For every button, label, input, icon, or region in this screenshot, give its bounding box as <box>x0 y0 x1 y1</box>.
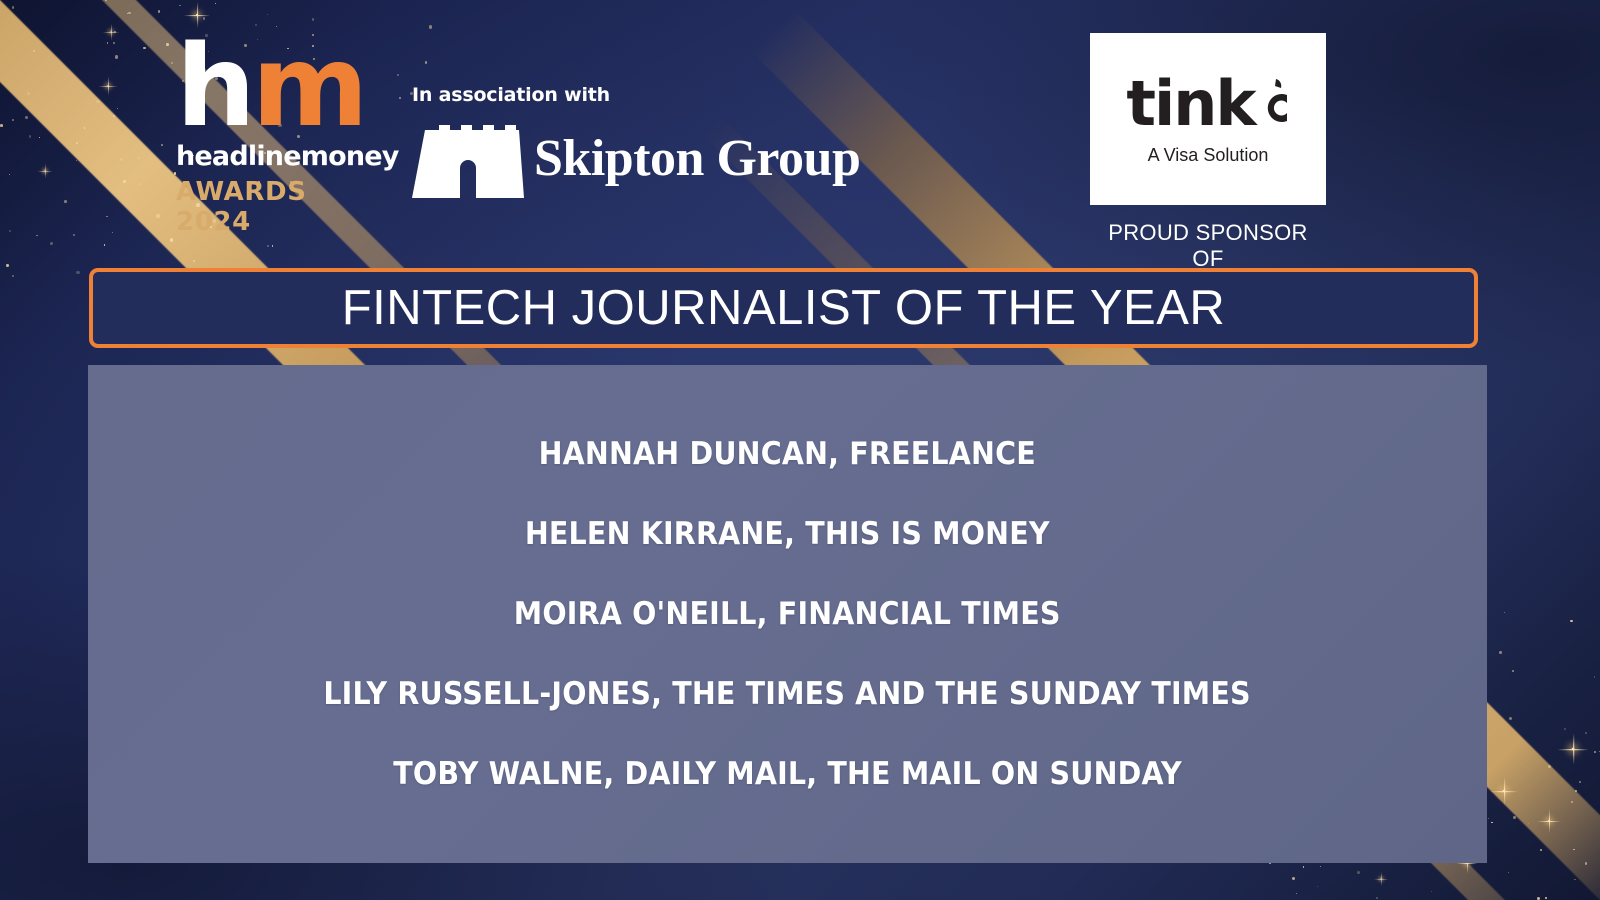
sparkle-dot <box>156 214 159 217</box>
sparkle-dot <box>171 62 173 64</box>
sparkle-dot <box>1512 670 1514 672</box>
sparkle-dot <box>429 25 432 28</box>
sparkle-dot <box>123 180 126 183</box>
nominee-entry: MOIRA O'NEILL, FINANCIAL TIMES <box>514 596 1061 632</box>
association-block: In association with Skipton Group <box>412 84 860 198</box>
sparkle-dot <box>203 17 206 20</box>
sparkle-dot <box>12 119 14 121</box>
nominee-entry: HELEN KIRRANE, THIS IS MONEY <box>525 516 1050 552</box>
sparkle-dot <box>312 18 314 20</box>
sparkle-dot <box>50 242 53 245</box>
sparkle-dot <box>112 232 113 233</box>
sparkle-dot <box>113 115 115 117</box>
sparkle-dot <box>120 158 123 161</box>
sparkle-dot <box>1545 897 1547 899</box>
sparkle-dot <box>64 200 67 203</box>
hm-awards-year: AWARDS 2024 <box>176 177 362 237</box>
hm-wordmark-headline: headline <box>176 141 301 172</box>
headline-money-logo: hm headlinemoney AWARDS 2024 <box>176 36 362 237</box>
sparkle-dot <box>272 245 273 246</box>
sparkle-dot <box>170 238 173 241</box>
sparkle-dot <box>1573 849 1574 850</box>
nominee-entry: LILY RUSSELL-JONES, THE TIMES AND THE SU… <box>324 676 1251 712</box>
skipton-group-name: Skipton Group <box>534 133 860 185</box>
nominees-panel: HANNAH DUNCAN, FREELANCEHELEN KIRRANE, T… <box>88 365 1487 863</box>
hm-letter-h: h <box>176 22 252 152</box>
sparkle-dot <box>1320 866 1321 867</box>
sparkle-dot <box>1499 651 1502 654</box>
sparkle-star <box>1380 878 1381 879</box>
tink-arc-mark-icon <box>1256 77 1290 127</box>
sparkle-dot <box>1269 863 1270 864</box>
sparkle-dot <box>106 216 108 218</box>
sparkle-dot <box>105 0 107 1</box>
sparkle-dot <box>12 275 15 278</box>
association-label: In association with <box>412 84 860 106</box>
sparkle-dot <box>1491 822 1493 824</box>
proud-sponsor-label: PROUD SPONSOR OF <box>1090 220 1326 272</box>
sparkle-star <box>1548 820 1550 822</box>
sparkle-dot <box>115 55 118 58</box>
sparkle-dot <box>1585 862 1587 864</box>
sparkle-dot <box>1571 801 1573 803</box>
sparkle-dot <box>36 235 37 236</box>
sparkle-dot <box>9 230 11 232</box>
sparkle-dot <box>96 100 99 103</box>
sparkle-dot <box>138 157 140 159</box>
sparkle-dot <box>104 244 106 246</box>
hm-wordmark: headlinemoney <box>176 141 362 172</box>
sparkle-dot <box>9 174 11 176</box>
sparkle-dot <box>1579 781 1580 782</box>
sparkle-dot <box>25 116 28 119</box>
sparkle-dot <box>1585 732 1587 734</box>
sparkle-star <box>196 14 198 16</box>
sparkle-dot <box>76 142 78 144</box>
sparkle-star <box>44 170 45 171</box>
sparkle-dot <box>425 61 427 63</box>
sparkle-dot <box>84 127 85 128</box>
sparkle-dot <box>29 135 32 138</box>
sparkle-dot <box>1548 765 1551 768</box>
sparkle-dot <box>1376 897 1378 899</box>
sparkle-dot <box>1296 893 1297 894</box>
sparkle-dot <box>1488 818 1489 819</box>
sparkle-dot <box>113 42 115 44</box>
tink-logo: tink <box>1126 73 1289 135</box>
sparkle-dot <box>117 108 118 109</box>
sparkle-dot <box>193 260 195 262</box>
nominee-entry: HANNAH DUNCAN, FREELANCE <box>539 436 1036 472</box>
sparkle-dot <box>27 92 30 95</box>
sparkle-dot <box>1508 872 1509 873</box>
sparkle-dot <box>399 97 401 99</box>
sparkle-dot <box>76 271 79 274</box>
sparkle-dot <box>1513 816 1516 819</box>
sparkle-dot <box>158 10 160 12</box>
hm-monogram: hm <box>176 36 362 139</box>
tink-tagline: A Visa Solution <box>1148 145 1269 166</box>
sparkle-dot <box>12 6 14 8</box>
sparkle-dot <box>161 144 163 146</box>
sparkle-dot <box>1540 849 1542 851</box>
sparkle-dot <box>267 245 269 247</box>
sparkle-dot <box>1509 717 1512 720</box>
sparkle-dot <box>179 5 180 6</box>
sparkle-dot <box>1431 891 1432 892</box>
castle-icon <box>412 120 524 198</box>
sparkle-dot <box>1528 823 1529 824</box>
sparkle-dot <box>1594 751 1596 753</box>
sparkle-dot <box>1575 790 1577 792</box>
sparkle-star <box>1572 748 1575 751</box>
sparkle-dot <box>73 234 75 236</box>
sparkle-dot <box>1292 877 1295 880</box>
sparkle-dot <box>143 47 145 49</box>
sparkle-dot <box>1570 620 1572 622</box>
sparkle-dot <box>139 183 142 186</box>
sparkle-dot <box>128 12 131 15</box>
tink-wordmark: tink <box>1126 73 1254 135</box>
sparkle-star <box>107 85 109 87</box>
sparkle-dot <box>1574 879 1576 881</box>
hm-wordmark-money: money <box>301 141 399 172</box>
sparkle-dot <box>267 14 268 15</box>
sparkle-dot <box>1594 676 1596 678</box>
sparkle-dot <box>1504 612 1505 613</box>
sparkle-dot <box>1317 886 1318 887</box>
award-title: FINTECH JOURNALIST OF THE YEAR <box>342 280 1226 336</box>
sparkle-dot <box>215 3 216 4</box>
hm-letter-m: m <box>252 22 365 152</box>
sparkle-dot <box>107 42 109 44</box>
award-title-banner: FINTECH JOURNALIST OF THE YEAR <box>89 268 1478 348</box>
sparkle-dot <box>166 43 169 46</box>
sparkle-dot <box>1303 866 1304 867</box>
sparkle-dot <box>397 74 399 76</box>
award-slide: hm headlinemoney AWARDS 2024 In associat… <box>0 0 1600 900</box>
skipton-group-logo: Skipton Group <box>412 120 860 198</box>
sparkle-star <box>1503 790 1505 792</box>
sparkle-dot <box>1537 897 1540 900</box>
sparkle-dot <box>0 124 3 127</box>
sparkle-dot <box>33 50 35 52</box>
sparkle-dot <box>1564 728 1566 730</box>
sparkle-dot <box>76 160 78 162</box>
sparkle-dot <box>39 137 40 138</box>
sparkle-star <box>110 31 111 32</box>
sparkle-dot <box>6 264 9 267</box>
nominee-entry: TOBY WALNE, DAILY MAIL, THE MAIL ON SUND… <box>393 756 1182 792</box>
tink-logo-card: tink A Visa Solution <box>1090 33 1326 205</box>
sparkle-dot <box>1357 871 1360 874</box>
